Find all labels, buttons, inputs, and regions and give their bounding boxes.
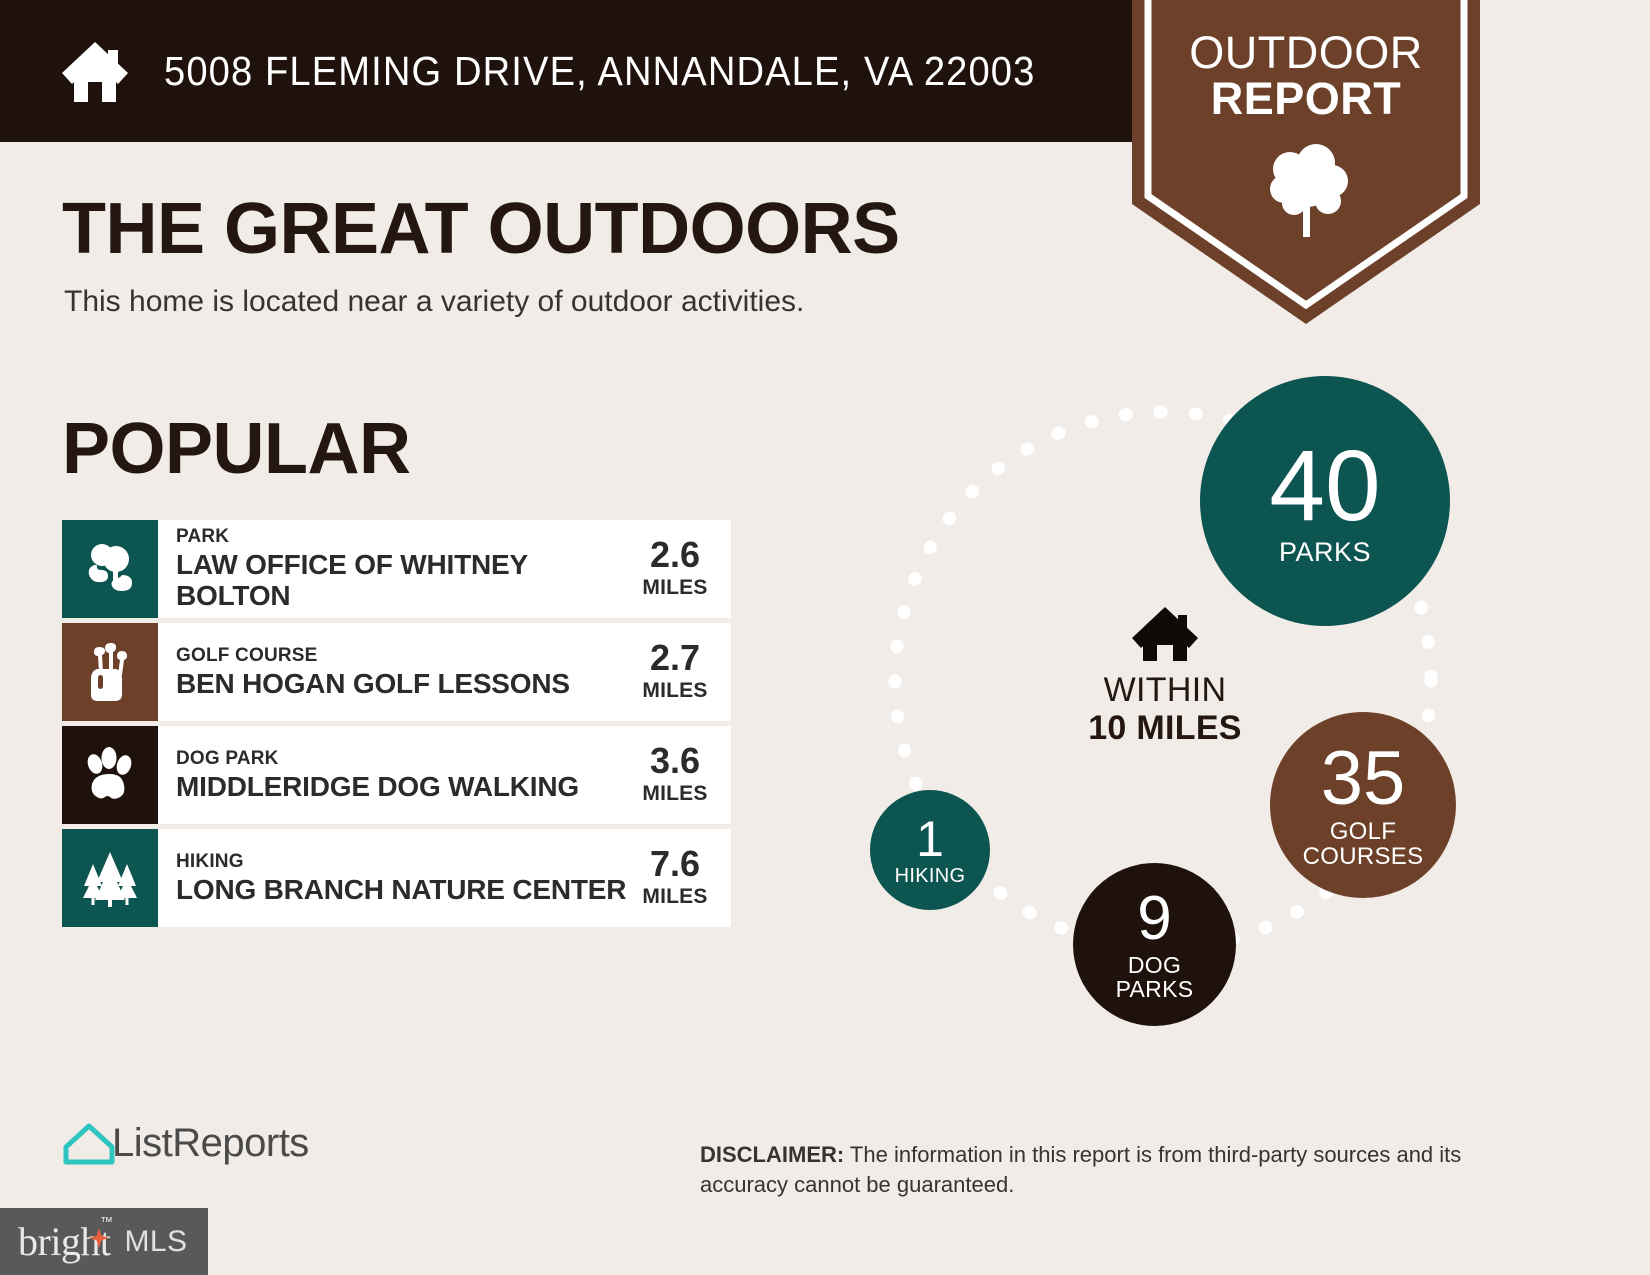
list-item-name: MIDDLERIDGE DOG WALKING [176,771,627,802]
diagram-center: WITHIN 10 MILES [1025,605,1305,747]
pine-trees-icon [62,829,158,927]
list-item[interactable]: HIKING LONG BRANCH NATURE CENTER 7.6 MIL… [62,829,731,927]
list-item-distance: 3.6 MILES [627,726,731,824]
golf-bag-icon [62,623,158,721]
distance-unit: MILES [642,884,707,909]
list-item-category: DOG PARK [176,748,627,771]
bright-mls-logo: bright ™ MLS [0,1208,208,1275]
list-item-distance: 2.6 MILES [627,520,731,618]
bubble-golf-label-line1: GOLF [1330,819,1397,844]
park-trees-icon [62,520,158,618]
disclaimer: DISCLAIMER: The information in this repo… [700,1140,1520,1199]
bubble-dog-parks: 9 DOG PARKS [1073,863,1236,1026]
list-item-name: LONG BRANCH NATURE CENTER [176,874,627,905]
list-item-body: GOLF COURSE BEN HOGAN GOLF LESSONS [158,623,627,721]
bubble-golf-value: 35 [1321,741,1406,817]
bubble-parks-value: 40 [1269,436,1380,536]
bubble-hiking-value: 1 [916,814,944,864]
within-10-miles-diagram: 40 PARKS 35 GOLF COURSES 9 DOG PARKS 1 H… [830,360,1530,1040]
bubble-dog-label-line2: PARKS [1116,977,1194,1001]
list-item-name: LAW OFFICE OF WHITNEY BOLTON [176,549,627,612]
list-item-body: PARK LAW OFFICE OF WHITNEY BOLTON [158,520,627,618]
listreports-logo: ListReports [60,1118,309,1168]
trademark-symbol: ™ [100,1214,113,1229]
center-label-within: WITHIN [1025,671,1305,709]
bubble-golf-label-line2: COURSES [1303,844,1424,869]
bubble-hiking: 1 HIKING [870,790,990,910]
list-item-distance: 7.6 MILES [627,829,731,927]
list-item-name: BEN HOGAN GOLF LESSONS [176,668,576,699]
list-item-body: HIKING LONG BRANCH NATURE CENTER [158,829,627,927]
page-title: THE GREAT OUTDOORS [62,188,900,270]
home-icon [1130,605,1200,663]
list-item[interactable]: PARK LAW OFFICE OF WHITNEY BOLTON 2.6 MI… [62,520,731,618]
list-item-category: HIKING [176,851,627,874]
center-label-distance: 10 MILES [1025,709,1305,747]
home-icon [58,34,132,108]
paw-print-icon [62,726,158,824]
bright-wordmark: bright ™ [18,1218,111,1265]
list-item-category: GOLF COURSE [176,645,627,668]
list-item[interactable]: GOLF COURSE BEN HOGAN GOLF LESSONS 2.7 M… [62,623,731,721]
page-subtitle: This home is located near a variety of o… [64,285,804,319]
popular-list: PARK LAW OFFICE OF WHITNEY BOLTON 2.6 MI… [62,520,731,932]
bubble-dog-label-line1: DOG [1128,953,1181,977]
list-item-distance: 2.7 MILES [627,623,731,721]
list-item-category: PARK [176,526,627,549]
distance-value: 7.6 [650,846,700,882]
distance-value: 2.7 [650,640,700,676]
bubble-dog-value: 9 [1137,888,1171,950]
bubble-parks-label: PARKS [1279,538,1371,566]
popular-heading: POPULAR [62,408,411,490]
house-outline-icon [60,1118,118,1168]
property-address: 5008 FLEMING DRIVE, ANNANDALE, VA 22003 [164,48,1035,95]
disclaimer-label: DISCLAIMER: [700,1142,844,1167]
distance-unit: MILES [642,781,707,806]
mls-text: MLS [125,1225,188,1259]
distance-unit: MILES [642,678,707,703]
star-icon [89,1228,109,1248]
header-bar: 5008 FLEMING DRIVE, ANNANDALE, VA 22003 [0,0,1185,142]
listreports-name: ListReports [112,1121,309,1166]
list-item-body: DOG PARK MIDDLERIDGE DOG WALKING [158,726,627,824]
bubble-parks: 40 PARKS [1200,376,1450,626]
outdoor-report-page: 5008 FLEMING DRIVE, ANNANDALE, VA 22003 … [0,0,1650,1275]
outdoor-report-badge: OUTDOOR REPORT [1132,0,1480,332]
distance-unit: MILES [642,575,707,600]
distance-value: 2.6 [650,537,700,573]
list-item[interactable]: DOG PARK MIDDLERIDGE DOG WALKING 3.6 MIL… [62,726,731,824]
distance-value: 3.6 [650,743,700,779]
bubble-hiking-label: HIKING [895,866,966,887]
